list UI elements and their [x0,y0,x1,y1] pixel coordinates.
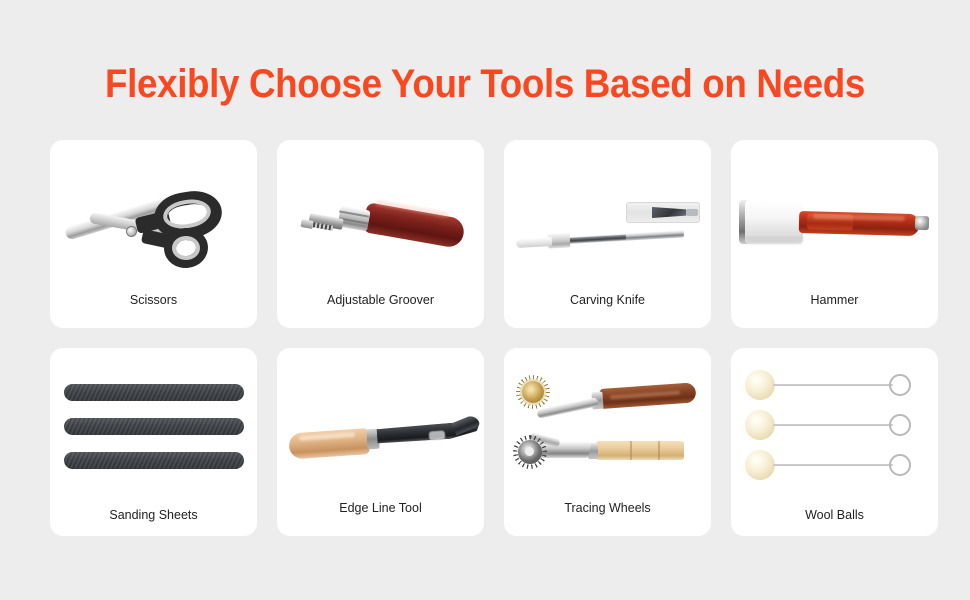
page-title: Flexibly Choose Your Tools Based on Need… [39,62,931,106]
sanding-sheet-3 [64,452,244,469]
scissors-small-handle-inner [172,236,200,260]
tool-card-label: Edge Line Tool [277,501,484,516]
wool-ball-head-2 [745,410,775,440]
scissors-icon [50,140,257,290]
sanding-sheet-2 [64,418,244,435]
tool-card-label: Hammer [731,293,938,308]
knife-protective-cap [516,237,552,248]
tool-card-label: Tracing Wheels [504,501,711,516]
tool-card-label: Sanding Sheets [50,508,257,523]
tracing-wheel-2-handle [596,441,684,460]
tool-card-label: Adjustable Groover [277,293,484,308]
hammer-head-shadow [745,236,803,244]
edge-tool-blade-marking [429,430,446,440]
tracing-wheels-icon [504,348,711,498]
wool-ball-rod-3 [773,464,893,466]
tools-promo-banner: Flexibly Choose Your Tools Based on Need… [0,0,970,600]
wool-ball-loop-3 [889,454,911,476]
wool-ball-rod-1 [773,384,893,386]
spare-blade-secondary [686,209,698,216]
tool-card-carving-knife[interactable]: Carving Knife [504,140,711,328]
edge-tool-wooden-handle [288,428,370,460]
wool-ball-loop-1 [889,374,911,396]
wool-balls-icon [731,348,938,498]
tool-card-wool-balls[interactable]: Wool Balls [731,348,938,536]
hammer-icon [731,140,938,290]
tool-card-grid: Scissors Adjustable Groover [50,140,936,536]
wool-ball-head-1 [745,370,775,400]
tool-card-scissors[interactable]: Scissors [50,140,257,328]
tool-card-sanding-sheets[interactable]: Sanding Sheets [50,348,257,536]
tool-card-label: Carving Knife [504,293,711,308]
adjustable-groover-icon [277,140,484,290]
tool-card-tracing-wheels[interactable]: Tracing Wheels [504,348,711,536]
tool-card-edge-line-tool[interactable]: Edge Line Tool [277,348,484,536]
tool-card-label: Scissors [50,293,257,308]
wool-ball-loop-2 [889,414,911,436]
wool-ball-head-3 [745,450,775,480]
scissors-pivot-screw [126,226,137,237]
hammer-end-cap [915,216,929,230]
sanding-sheet-1 [64,384,244,401]
edge-line-tool-icon [277,348,484,498]
tool-card-adjustable-groover[interactable]: Adjustable Groover [277,140,484,328]
carving-knife-icon [504,140,711,290]
sanding-sheets-icon [50,348,257,498]
wool-ball-rod-2 [773,424,893,426]
tracing-wheel-2-handle-seam-2 [658,441,660,460]
groover-cutting-tip [300,219,313,229]
tracing-wheel-1-wheel [522,381,544,403]
tool-card-hammer[interactable]: Hammer [731,140,938,328]
tool-card-label: Wool Balls [731,508,938,523]
tracing-wheel-2-handle-seam-1 [630,441,632,460]
tracing-wheel-2-hub [525,447,534,456]
